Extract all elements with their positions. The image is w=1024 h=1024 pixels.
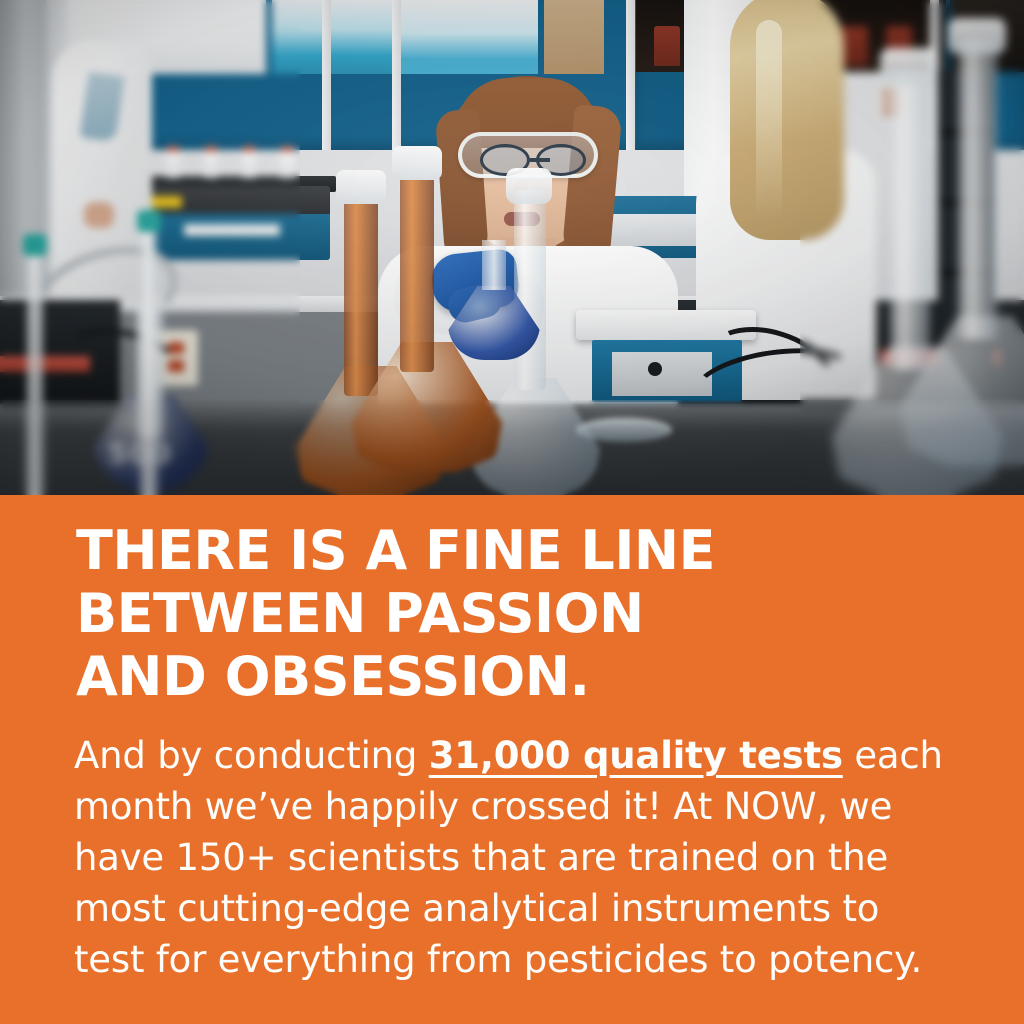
sample-vial bbox=[242, 150, 256, 178]
cabinet-divider bbox=[322, 0, 331, 150]
page-title: THERE IS A FINE LINE BETWEEN PASSION AND… bbox=[76, 519, 956, 708]
orange-message-panel: THERE IS A FINE LINE BETWEEN PASSION AND… bbox=[0, 495, 1024, 1024]
cabinet-glass-pane-4 bbox=[544, 0, 604, 74]
scientist-right-hair-highlight bbox=[756, 20, 782, 220]
headline-line-1: THERE IS A FINE LINE bbox=[76, 519, 956, 582]
photo-scene: 500 bbox=[0, 0, 1024, 496]
volumetric-flask-clear-2 bbox=[900, 40, 1024, 466]
cabinet-glass-pane-2 bbox=[272, 0, 392, 74]
body-line-3: have 150+ scientists that are trained on… bbox=[74, 832, 954, 883]
laboratory-photo: 500 bbox=[0, 0, 1024, 496]
flask-stopper bbox=[392, 146, 442, 180]
cabinet-glass-pane-3 bbox=[398, 0, 538, 74]
headline-line-2: BETWEEN PASSION bbox=[76, 582, 956, 645]
flask-stopper bbox=[506, 168, 552, 204]
scientist-left-hand bbox=[84, 202, 114, 228]
sample-vial bbox=[204, 150, 218, 178]
body-line-1: And by conducting 31,000 quality tests e… bbox=[74, 730, 954, 781]
flask-neck bbox=[400, 172, 434, 372]
pipette-mid bbox=[140, 228, 158, 496]
promotional-card: 500 THERE IS A FINE bbox=[0, 0, 1024, 1024]
flask-stopper bbox=[948, 18, 1006, 54]
sample-vial bbox=[280, 150, 294, 178]
goggles-bridge bbox=[530, 158, 550, 162]
instrument-knob bbox=[648, 362, 662, 376]
body-line-2: month we’ve happily crossed it! At NOW, … bbox=[74, 781, 954, 832]
body-line-5: test for everything from pesticides to p… bbox=[74, 934, 954, 985]
flask-neck bbox=[958, 40, 998, 340]
shelf-bottle bbox=[654, 26, 680, 66]
body-line-1-pre: And by conducting bbox=[74, 734, 429, 777]
body-paragraph: And by conducting 31,000 quality tests e… bbox=[74, 730, 954, 985]
lab-instrument-left-display bbox=[184, 224, 280, 236]
cabinet-divider bbox=[392, 0, 401, 150]
sample-vial bbox=[166, 150, 180, 178]
volumetric-flask-amber-2 bbox=[352, 172, 502, 472]
body-line-4: most cutting-edge analytical instruments… bbox=[74, 883, 954, 934]
lab-instrument-left-yellow-tag bbox=[148, 196, 182, 208]
quality-tests-highlight: 31,000 quality tests bbox=[429, 734, 843, 777]
body-line-1-post: each bbox=[843, 734, 943, 777]
pipette-left bbox=[26, 252, 44, 496]
scientist-right-hair bbox=[730, 0, 844, 240]
headline-line-3: AND OBSESSION. bbox=[76, 645, 956, 708]
